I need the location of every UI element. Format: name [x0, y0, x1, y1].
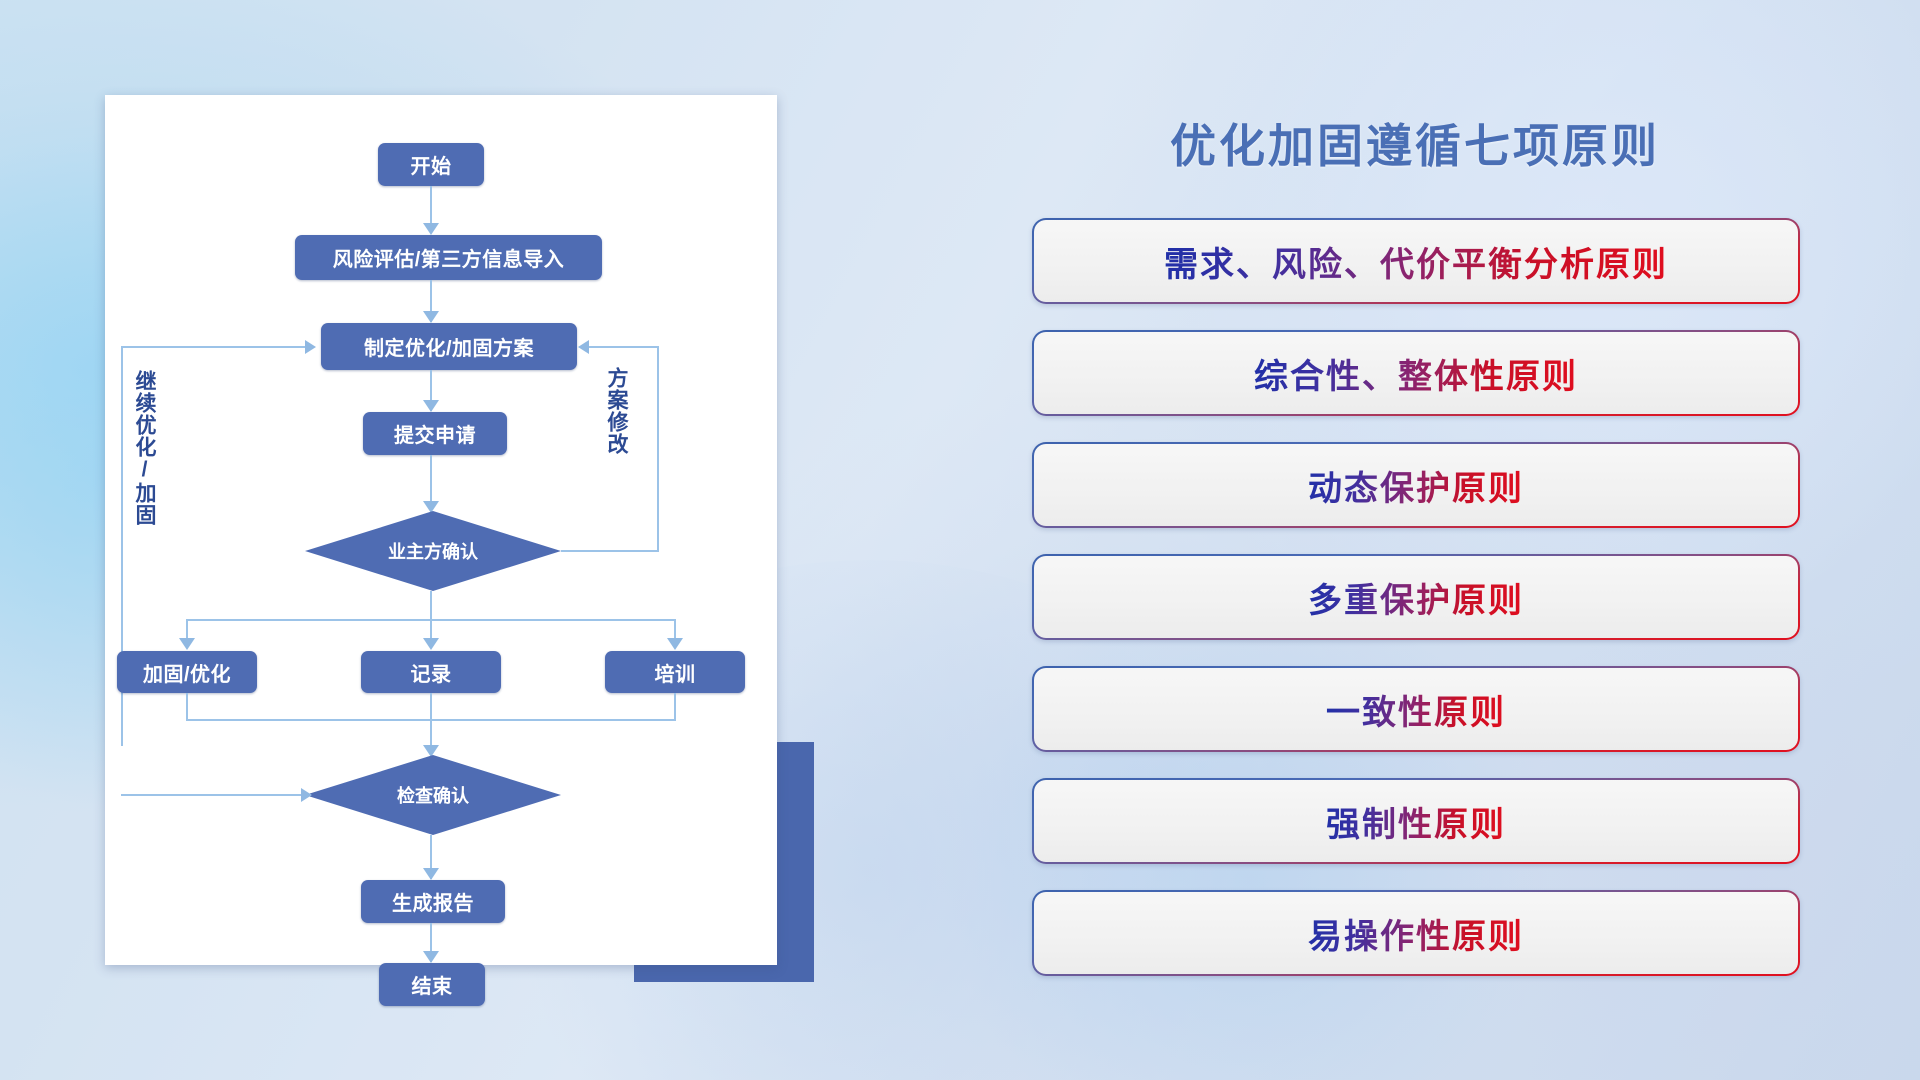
- connector-owner-down: [430, 591, 432, 621]
- principle-card-1-label: 需求、风险、代价平衡分析原则: [1164, 237, 1668, 286]
- arrowhead-fanout-left: [179, 638, 195, 650]
- principles-panel: 优化加固遵循七项原则 需求、风险、代价平衡分析原则 综合性、整体性原则 动态保护…: [1020, 110, 1810, 1010]
- flow-edge-label-plan-revision: 方案修改: [605, 367, 627, 455]
- connector-fanin-right: [674, 693, 676, 721]
- flow-node-training[interactable]: 培训: [605, 651, 745, 693]
- arrowhead-inspect-to-report: [423, 868, 439, 880]
- flow-node-start-label: 开始: [411, 150, 452, 179]
- flowchart-card: 开始 风险评估/第三方信息导入 制定优化/加固方案 提交申请 业主方确认: [105, 95, 777, 965]
- connector-owner-right-up: [657, 346, 659, 552]
- arrowhead-fanout-right: [667, 638, 683, 650]
- arrowhead-risk-to-plan: [423, 311, 439, 323]
- flow-decision-inspect-confirm[interactable]: 检查确认: [305, 755, 561, 835]
- arrowhead-report-to-end: [423, 951, 439, 963]
- flow-node-record[interactable]: 记录: [361, 651, 501, 693]
- principle-card-2-label: 综合性、整体性原则: [1254, 349, 1578, 398]
- flow-node-submit[interactable]: 提交申请: [363, 412, 507, 455]
- principle-card-4-label: 多重保护原则: [1308, 573, 1524, 622]
- arrowhead-fanout-center: [423, 638, 439, 650]
- connector-fanin-center: [430, 693, 432, 721]
- flow-decision-owner-confirm-label: 业主方确认: [388, 538, 478, 564]
- flow-decision-owner-confirm[interactable]: 业主方确认: [305, 511, 561, 591]
- principle-card-7[interactable]: 易操作性原则: [1032, 890, 1800, 976]
- flow-node-plan[interactable]: 制定优化/加固方案: [321, 323, 577, 370]
- flow-node-risk-assessment[interactable]: 风险评估/第三方信息导入: [295, 235, 602, 280]
- arrowhead-submit-to-owner: [423, 501, 439, 513]
- principle-card-4[interactable]: 多重保护原则: [1032, 554, 1800, 640]
- flow-node-end-label: 结束: [412, 970, 453, 999]
- flow-node-record-label: 记录: [411, 658, 452, 687]
- flow-node-end[interactable]: 结束: [379, 963, 485, 1006]
- arrowhead-continue-optimize-in: [305, 340, 316, 354]
- principle-card-7-label: 易操作性原则: [1308, 909, 1524, 958]
- arrowhead-start-to-risk: [423, 223, 439, 235]
- connector-plan-revision-in: [589, 346, 659, 348]
- principle-card-2[interactable]: 综合性、整体性原则: [1032, 330, 1800, 416]
- arrowhead-fanin-to-inspect: [423, 745, 439, 757]
- arrowhead-plan-to-submit: [423, 400, 439, 412]
- flow-edge-label-continue-optimize: 继续优化/加固: [133, 370, 155, 526]
- principle-card-6[interactable]: 强制性原则: [1032, 778, 1800, 864]
- flow-node-risk-assessment-label: 风险评估/第三方信息导入: [333, 243, 565, 272]
- flow-node-training-label: 培训: [655, 658, 696, 687]
- principle-card-3[interactable]: 动态保护原则: [1032, 442, 1800, 528]
- connector-continue-optimize-in: [121, 346, 307, 348]
- flow-node-generate-report[interactable]: 生成报告: [361, 880, 505, 923]
- panel-title: 优化加固遵循七项原则: [1020, 110, 1810, 176]
- flow-node-reinforce-label: 加固/优化: [143, 658, 231, 687]
- flow-decision-inspect-confirm-label: 检查确认: [397, 782, 469, 808]
- flow-node-reinforce[interactable]: 加固/优化: [117, 651, 257, 693]
- principle-card-5-label: 一致性原则: [1326, 685, 1506, 734]
- connector-fanin-left: [186, 693, 188, 721]
- principle-card-3-label: 动态保护原则: [1308, 461, 1524, 510]
- connector-owner-right-out: [561, 550, 659, 552]
- flow-node-generate-report-label: 生成报告: [392, 887, 474, 916]
- slide-canvas: 开始 风险评估/第三方信息导入 制定优化/加固方案 提交申请 业主方确认: [0, 0, 1920, 1080]
- connector-inspect-left-out: [121, 794, 311, 796]
- principle-card-1[interactable]: 需求、风险、代价平衡分析原则: [1032, 218, 1800, 304]
- arrowhead-plan-revision-in: [578, 340, 589, 354]
- arrowhead-inspect-left-join: [301, 788, 312, 802]
- flow-node-submit-label: 提交申请: [394, 419, 476, 448]
- flow-node-plan-label: 制定优化/加固方案: [364, 332, 534, 361]
- principle-card-5[interactable]: 一致性原则: [1032, 666, 1800, 752]
- flow-node-start[interactable]: 开始: [378, 143, 484, 186]
- principle-card-6-label: 强制性原则: [1326, 797, 1506, 846]
